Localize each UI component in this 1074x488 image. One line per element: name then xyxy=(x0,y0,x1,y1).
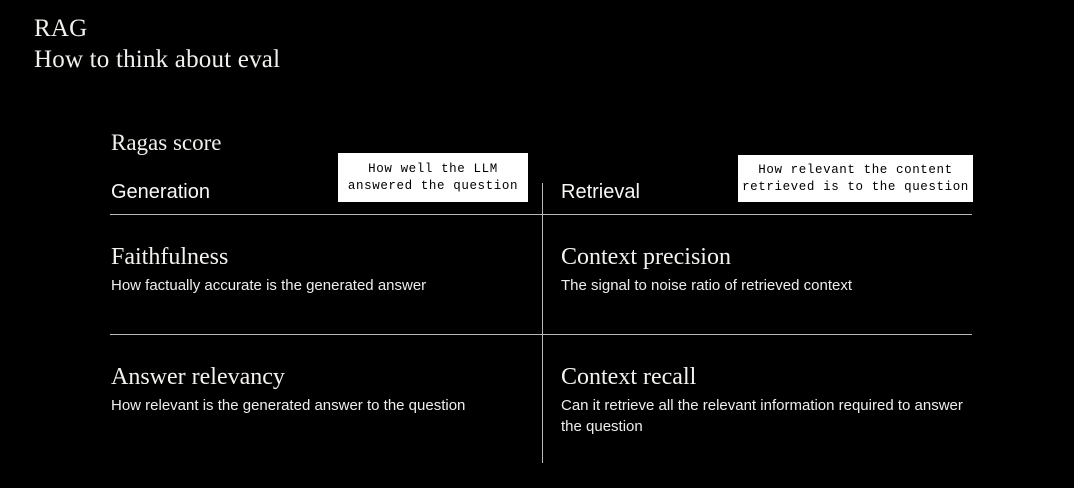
section-label-ragas-score: Ragas score xyxy=(111,130,222,156)
retrieval-callout-text: How relevant the contentretrieved is to … xyxy=(742,162,969,196)
divider-header-rule xyxy=(110,214,972,215)
retrieval-callout-line1: How relevant the content xyxy=(758,163,952,177)
divider-column-rule xyxy=(542,183,543,463)
generation-callout: How well the LLManswered the question xyxy=(338,153,528,202)
metric-title: Faithfulness xyxy=(111,243,511,271)
metric-cell-context-precision: Context precision The signal to noise ra… xyxy=(561,243,973,296)
metric-cell-faithfulness: Faithfulness How factually accurate is t… xyxy=(111,243,511,296)
title-block: RAG How to think about eval xyxy=(34,14,634,76)
column-header-retrieval: Retrieval xyxy=(561,180,640,204)
page-title: RAG xyxy=(34,14,634,44)
metric-cell-answer-relevancy: Answer relevancy How relevant is the gen… xyxy=(111,363,526,416)
ragas-matrix: Ragas score Generation Retrieval How wel… xyxy=(110,130,972,465)
metric-description: The signal to noise ratio of retrieved c… xyxy=(561,275,973,296)
metric-title: Answer relevancy xyxy=(111,363,526,391)
generation-callout-line1: How well the LLM xyxy=(368,162,498,176)
slide-root: RAG How to think about eval Ragas score … xyxy=(0,0,1074,488)
metric-title: Context precision xyxy=(561,243,973,271)
metric-title: Context recall xyxy=(561,363,973,391)
generation-callout-line2: answered the question xyxy=(348,179,518,193)
metric-description: How factually accurate is the generated … xyxy=(111,275,511,296)
page-subtitle: How to think about eval xyxy=(34,44,634,76)
metric-cell-context-recall: Context recall Can it retrieve all the r… xyxy=(561,363,973,437)
metric-description: How relevant is the generated answer to … xyxy=(111,395,526,416)
retrieval-callout-line2: retrieved is to the question xyxy=(742,180,969,194)
divider-row-rule xyxy=(110,334,972,335)
metric-description: Can it retrieve all the relevant informa… xyxy=(561,395,973,437)
retrieval-callout: How relevant the contentretrieved is to … xyxy=(738,155,973,202)
column-header-generation: Generation xyxy=(111,180,210,204)
generation-callout-text: How well the LLManswered the question xyxy=(348,161,518,195)
